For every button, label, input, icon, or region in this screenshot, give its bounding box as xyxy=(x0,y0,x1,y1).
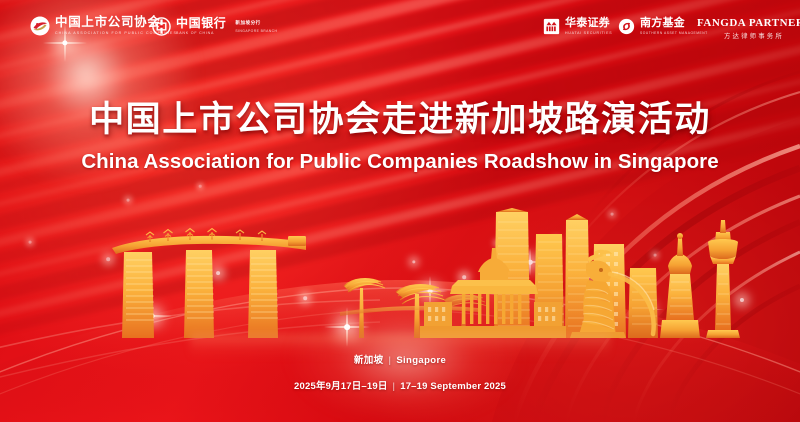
southern-fund-icon xyxy=(618,18,635,35)
event-date-cn: 2025年9月17日–19日 xyxy=(294,381,388,392)
logo-southern-asset-management[interactable]: 南方基金 SOUTHERN ASSET MANAGEMENT xyxy=(618,18,708,35)
logo-bank-of-china[interactable]: 中国银行 BANK OF CHINA 新加坡分行 SINGAPORE BRANC… xyxy=(152,17,277,36)
logo-boc-branch-cn: 新加坡分行 xyxy=(235,20,277,26)
title-block: 中国上市公司协会走进新加坡路演活动 China Association for … xyxy=(0,100,800,174)
logo-boc-branch-en: SINGAPORE BRANCH xyxy=(235,29,277,33)
bank-of-china-icon xyxy=(152,17,171,36)
event-location-cn: 新加坡 xyxy=(354,355,384,366)
logo-boc-cn: 中国银行 xyxy=(176,17,226,29)
location-separator: | xyxy=(388,355,391,366)
logo-fangda-cn: 方达律师事务所 xyxy=(724,34,784,40)
event-date-en: 17–19 September 2025 xyxy=(400,381,506,392)
event-location: 新加坡|Singapore xyxy=(0,352,800,366)
logo-huatai-cn: 华泰证券 xyxy=(565,18,612,29)
event-location-en: Singapore xyxy=(396,355,446,366)
logo-huatai-securities[interactable]: 华泰证券 HUATAI SECURITIES xyxy=(543,18,612,36)
logo-fangda-en: FANGDA PARTNERS xyxy=(697,18,800,29)
sponsor-logo-bar: 中国上市公司协会 CHINA ASSOCIATION FOR PUBLIC CO… xyxy=(0,14,800,54)
event-details: 新加坡|Singapore 2025年9月17日–19日|17–19 Septe… xyxy=(0,352,800,392)
singapore-skyline-illustration xyxy=(0,208,800,338)
page-title-en: China Association for Public Companies R… xyxy=(0,150,800,174)
poster-canvas: 中国上市公司协会 CHINA ASSOCIATION FOR PUBLIC CO… xyxy=(0,0,800,422)
date-separator: | xyxy=(393,381,396,392)
page-title-cn: 中国上市公司协会走进新加坡路演活动 xyxy=(0,100,800,141)
event-dates: 2025年9月17日–19日|17–19 September 2025 xyxy=(0,378,800,392)
logo-huatai-en: HUATAI SECURITIES xyxy=(565,32,612,36)
skyline-landmarks-right xyxy=(0,208,800,338)
logo-fangda-partners[interactable]: FANGDA PARTNERS 方达律师事务所 xyxy=(697,18,800,40)
huatai-securities-icon xyxy=(543,18,560,35)
capc-logo-icon xyxy=(30,16,50,36)
logo-boc-en: BANK OF CHINA xyxy=(176,32,226,36)
